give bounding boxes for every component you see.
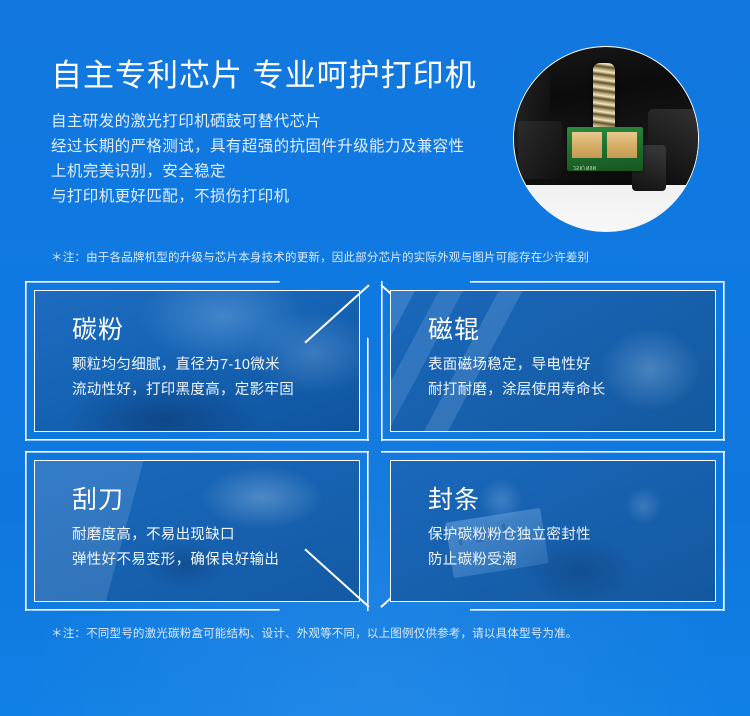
card-line: 耐打耐磨，涂层使用寿命长: [428, 378, 703, 403]
disclaimer-note-top: ＊注：由于各品牌机型的升级与芯片本身技术的更新，因此部分芯片的实际外观与图片可能…: [51, 250, 589, 266]
card-line: 表面磁场稳定，导电性好: [428, 353, 703, 378]
card-content: 磁辊 表面磁场稳定，导电性好 耐打耐磨，涂层使用寿命长: [428, 314, 703, 403]
card-inner-panel: 磁辊 表面磁场稳定，导电性好 耐打耐磨，涂层使用寿命长: [390, 290, 716, 432]
housing-left-ledge-shape: [518, 121, 562, 179]
card-line: 耐磨度高，不易出现缺口: [72, 523, 347, 548]
hero-text-block: 自主专利芯片 专业呵护打印机 自主研发的激光打印机硒鼓可替代芯片 经过长期的严格…: [51, 56, 521, 209]
feature-card-seal[interactable]: PULL 封条 保护碳粉粉仓独立密封性 防止碳粉受潮: [381, 451, 725, 611]
hero-line: 经过长期的严格测试，具有超强的抗固件升级能力及兼容性: [51, 134, 521, 159]
pcb-marking-text: J5K/N9N: [573, 164, 596, 170]
hero-line: 与打印机更好匹配，不损伤打印机: [51, 184, 521, 209]
feature-cards-grid: 碳粉 颗粒均匀细腻，直径为7-10微米 流动性好，打印黑度高，定影牢固 磁辊 表…: [25, 281, 725, 611]
hero-description-list: 自主研发的激光打印机硒鼓可替代芯片 经过长期的严格测试，具有超强的抗固件升级能力…: [51, 109, 521, 209]
chip-contact-pad-right: [607, 132, 637, 158]
page-title: 自主专利芯片 专业呵护打印机: [51, 56, 521, 96]
card-title: 封条: [428, 484, 703, 516]
feature-card-blade[interactable]: 刮刀 耐磨度高，不易出现缺口 弹性好不易变形，确保良好输出: [25, 451, 369, 611]
promo-banner-page: 自主专利芯片 专业呵护打印机 自主研发的激光打印机硒鼓可替代芯片 经过长期的严格…: [0, 0, 750, 716]
feature-card-magnetic-roller[interactable]: 磁辊 表面磁场稳定，导电性好 耐打耐磨，涂层使用寿命长: [381, 281, 725, 441]
card-content: 封条 保护碳粉粉仓独立密封性 防止碳粉受潮: [428, 484, 703, 573]
hero-line: 上机完美识别，安全稳定: [51, 159, 521, 184]
chip-photo-circle: J5K/N9N: [513, 46, 699, 232]
card-content: 碳粉 颗粒均匀细腻，直径为7-10微米 流动性好，打印黑度高，定影牢固: [72, 314, 347, 403]
card-line: 防止碳粉受潮: [428, 548, 703, 573]
card-inner-panel: 刮刀 耐磨度高，不易出现缺口 弹性好不易变形，确保良好输出: [34, 460, 360, 602]
card-line: 流动性好，打印黑度高，定影牢固: [72, 378, 347, 403]
card-title: 磁辊: [428, 314, 703, 346]
card-inner-panel: PULL 封条 保护碳粉粉仓独立密封性 防止碳粉受潮: [390, 460, 716, 602]
chip-pcb-shape: J5K/N9N: [567, 127, 643, 171]
hero-line: 自主研发的激光打印机硒鼓可替代芯片: [51, 109, 521, 134]
disclaimer-note-bottom: ＊注：不同型号的激光碳粉盒可能结构、设计、外观等不同，以上图例仅供参考，请以具体…: [51, 626, 578, 642]
chip-photo-image: J5K/N9N: [514, 47, 698, 231]
chip-contact-pad-left: [572, 132, 602, 158]
card-line: 保护碳粉粉仓独立密封性: [428, 523, 703, 548]
card-title: 刮刀: [72, 484, 347, 516]
card-inner-panel: 碳粉 颗粒均匀细腻，直径为7-10微米 流动性好，打印黑度高，定影牢固: [34, 290, 360, 432]
card-content: 刮刀 耐磨度高，不易出现缺口 弹性好不易变形，确保良好输出: [72, 484, 347, 573]
feature-card-toner[interactable]: 碳粉 颗粒均匀细腻，直径为7-10微米 流动性好，打印黑度高，定影牢固: [25, 281, 369, 441]
card-line: 颗粒均匀细腻，直径为7-10微米: [72, 353, 347, 378]
metal-spring-shape: [593, 63, 615, 135]
